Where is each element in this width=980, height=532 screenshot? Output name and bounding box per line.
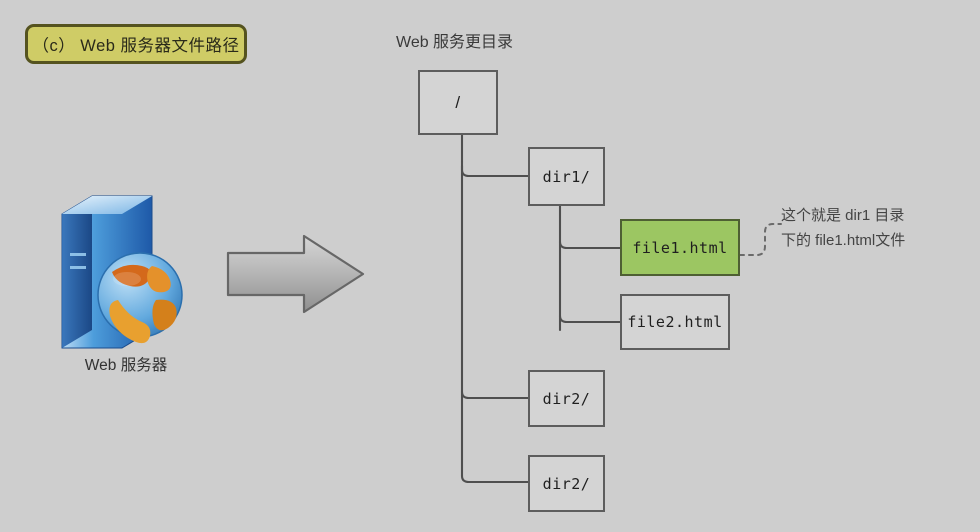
annotation-callout: 这个就是 dir1 目录 下的 file1.html文件 — [781, 203, 971, 253]
tree-node-label: / — [455, 93, 460, 113]
tree-header-label: Web 服务更目录 — [396, 28, 513, 52]
right-arrow-icon — [228, 236, 363, 312]
figure-canvas: （c） Web 服务器文件路径 Web 服务更目录 Web 服务器 / dir1… — [0, 0, 980, 532]
tree-node-file1-html[interactable]: file1.html — [620, 219, 740, 276]
tree-node-dir2-second[interactable]: dir2/ — [528, 455, 605, 512]
tree-node-label: file2.html — [627, 313, 722, 331]
tree-node-label: dir2/ — [543, 390, 591, 408]
tree-node-label: file1.html — [632, 239, 727, 257]
tree-node-label: dir2/ — [543, 475, 591, 493]
server-label: Web 服务器 — [46, 353, 206, 375]
tree-node-root[interactable]: / — [418, 70, 498, 135]
tree-node-dir1[interactable]: dir1/ — [528, 147, 605, 206]
tree-node-label: dir1/ — [543, 168, 591, 186]
figure-caption-text: （c） Web 服务器文件路径 — [32, 32, 239, 56]
annotation-leader-line — [740, 224, 781, 255]
tree-node-dir2-first[interactable]: dir2/ — [528, 370, 605, 427]
annotation-line-1: 这个就是 dir1 目录 — [781, 203, 971, 228]
server-globe-icon — [62, 196, 182, 348]
tree-node-file2-html[interactable]: file2.html — [620, 294, 730, 350]
annotation-line-2: 下的 file1.html文件 — [781, 228, 971, 253]
figure-caption-box: （c） Web 服务器文件路径 — [25, 24, 247, 64]
